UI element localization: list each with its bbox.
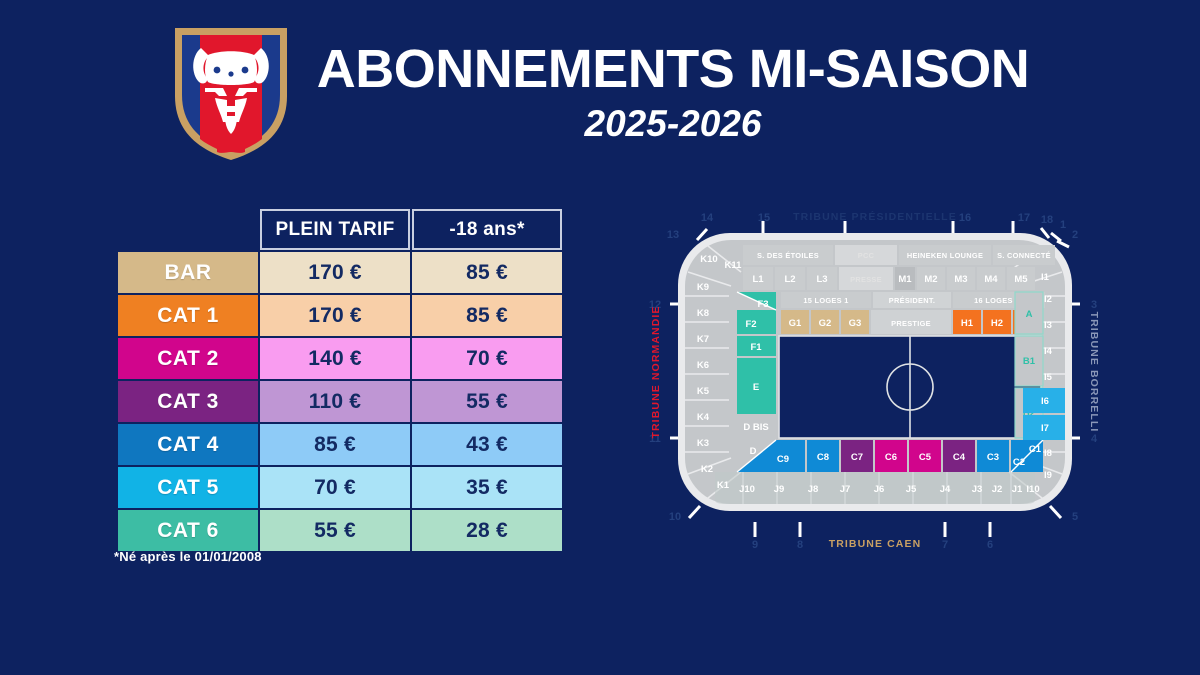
- column-header-full-price: PLEIN TARIF: [260, 209, 410, 250]
- full-price-cell: 55 €: [260, 510, 410, 551]
- pitch: [779, 336, 1041, 438]
- section-I7: I7: [1041, 423, 1049, 434]
- tribune-normandie-label: TRIBUNE NORMANDIE: [650, 305, 662, 438]
- section-C6: C6: [885, 452, 897, 463]
- full-price-cell: 140 €: [260, 338, 410, 379]
- section-C9: C9: [777, 454, 789, 465]
- section-PRESTIGE: PRESTIGE: [891, 319, 931, 328]
- section-M3: M3: [954, 274, 967, 285]
- full-price-cell: 170 €: [260, 295, 410, 336]
- section-I10: I10: [1026, 484, 1039, 495]
- section-L1: L1: [752, 274, 764, 285]
- tribune-caen-label: TRIBUNE CAEN: [829, 538, 922, 550]
- youth-price-cell: 85 €: [412, 252, 562, 293]
- section-K8: K8: [697, 308, 709, 319]
- tribune-borrelli-label: TRIBUNE BORRELLI: [1088, 312, 1100, 433]
- pricing-table: PLEIN TARIF -18 ans* BAR170 €85 €CAT 117…: [116, 207, 564, 553]
- section-M5: M5: [1014, 274, 1028, 285]
- table-row: BAR170 €85 €: [118, 252, 562, 293]
- loges-president-label: PRÉSIDENT.: [889, 296, 936, 305]
- section-B1: B1: [1023, 356, 1036, 367]
- section-J7: J7: [840, 484, 851, 495]
- section-J10: J10: [739, 484, 755, 495]
- south-lower-tier: C9 C8 C7 C6 C5 C4 C3 C1 C2: [737, 440, 1043, 472]
- lounge-heineken: HEINEKEN LOUNGE: [907, 251, 983, 260]
- section-K9: K9: [697, 282, 709, 293]
- table-header-row: PLEIN TARIF -18 ans*: [118, 209, 562, 250]
- section-C1: C1: [1029, 444, 1042, 455]
- section-K3: K3: [697, 438, 709, 449]
- section-F1: F1: [750, 342, 762, 353]
- gate-16: 16: [959, 212, 971, 224]
- gate-9: 9: [752, 539, 758, 551]
- section-K10: K10: [700, 254, 717, 265]
- table-row: CAT 655 €28 €: [118, 510, 562, 551]
- section-J9: J9: [774, 484, 785, 495]
- section-F2: F2: [745, 319, 756, 330]
- season-subtitle: 2025-2026: [585, 103, 762, 145]
- section-M4: M4: [984, 274, 998, 285]
- loges-seat-row: G1 G2 G3 PRESTIGE H1 H2 H3: [781, 310, 1041, 334]
- section-J5: J5: [906, 484, 917, 495]
- section-C4: C4: [953, 452, 966, 463]
- section-I3: I3: [1044, 320, 1052, 331]
- gate-15: 15: [758, 212, 770, 224]
- gate-1: 1: [1060, 219, 1066, 231]
- ring-bottom-labels: J10 J9 J8 J7 J6 J5 J4 J3 J2 J1: [739, 484, 1023, 495]
- gate-7: 7: [942, 539, 948, 551]
- stadium-seating-map[interactable]: 13 14 15 16 17 18 1 2 12 11 3 4 10 9 8 7…: [645, 200, 1105, 560]
- section-G2: G2: [819, 318, 832, 329]
- pricing-table-container: PLEIN TARIF -18 ans* BAR170 €85 €CAT 117…: [116, 207, 556, 553]
- section-K4: K4: [697, 412, 710, 423]
- section-G1: G1: [789, 318, 802, 329]
- section-DBIS: D BIS: [743, 422, 768, 433]
- category-cell: CAT 1: [118, 295, 258, 336]
- section-J6: J6: [874, 484, 885, 495]
- table-row: CAT 2140 €70 €: [118, 338, 562, 379]
- gate-17: 17: [1018, 212, 1030, 224]
- gate-4: 4: [1091, 433, 1098, 445]
- category-cell: CAT 3: [118, 381, 258, 422]
- gate-18: 18: [1041, 214, 1053, 226]
- section-PRESSE: PRESSE: [850, 275, 882, 284]
- table-row: CAT 3110 €55 €: [118, 381, 562, 422]
- section-K5: K5: [697, 386, 710, 397]
- section-K2: K2: [701, 464, 713, 475]
- section-J1: J1: [1012, 484, 1023, 495]
- section-L2: L2: [784, 274, 795, 285]
- youth-price-cell: 35 €: [412, 467, 562, 508]
- section-K7: K7: [697, 334, 709, 345]
- section-I5: I5: [1044, 372, 1053, 383]
- section-C7: C7: [851, 452, 863, 463]
- club-crest-icon: [171, 22, 291, 164]
- section-C5: C5: [919, 452, 932, 463]
- section-I4: I4: [1044, 346, 1053, 357]
- section-H2: H2: [991, 318, 1003, 329]
- gate-2: 2: [1072, 229, 1078, 241]
- lounge-connecte: S. CONNECTÉ: [997, 251, 1051, 260]
- category-cell: CAT 4: [118, 424, 258, 465]
- youth-price-cell: 70 €: [412, 338, 562, 379]
- table-row: CAT 485 €43 €: [118, 424, 562, 465]
- section-K11: K11: [725, 260, 743, 271]
- table-corner-cell: [118, 209, 258, 250]
- youth-price-cell: 28 €: [412, 510, 562, 551]
- gate-8: 8: [797, 539, 803, 551]
- full-price-cell: 85 €: [260, 424, 410, 465]
- youth-price-cell: 55 €: [412, 381, 562, 422]
- lounge-pcc: PCC: [858, 251, 875, 260]
- section-C8: C8: [817, 452, 829, 463]
- table-row: CAT 1170 €85 €: [118, 295, 562, 336]
- full-price-cell: 170 €: [260, 252, 410, 293]
- gate-5: 5: [1072, 511, 1078, 523]
- gate-14: 14: [701, 212, 714, 224]
- page-header: ABONNEMENTS MI-SAISON 2025-2026: [0, 22, 1200, 164]
- lounge-etoiles: S. DES ÉTOILES: [757, 251, 819, 260]
- category-cell: CAT 6: [118, 510, 258, 551]
- section-I1: I1: [1041, 272, 1050, 283]
- section-J3: J3: [972, 484, 983, 495]
- section-D: D: [750, 446, 757, 457]
- pricing-table-body: BAR170 €85 €CAT 1170 €85 €CAT 2140 €70 €…: [118, 252, 562, 551]
- youth-price-cell: 85 €: [412, 295, 562, 336]
- table-footnote: *Né après le 01/01/2008: [114, 549, 262, 564]
- youth-price-cell: 43 €: [412, 424, 562, 465]
- section-K1: K1: [717, 480, 730, 491]
- section-I6: I6: [1041, 396, 1049, 407]
- section-M1: M1: [898, 274, 912, 285]
- section-H1: H1: [961, 318, 974, 329]
- section-K6: K6: [697, 360, 709, 371]
- section-L3: L3: [816, 274, 827, 285]
- section-J4: J4: [940, 484, 951, 495]
- category-cell: CAT 5: [118, 467, 258, 508]
- page-title: ABONNEMENTS MI-SAISON: [317, 41, 1030, 98]
- section-E: E: [753, 382, 759, 393]
- section-M2: M2: [924, 274, 937, 285]
- loges-label-strip: 15 LOGES 1 PRÉSIDENT. 16 LOGES 30: [781, 292, 1045, 308]
- top-lounge-strip: S. DES ÉTOILES PCC HEINEKEN LOUNGE S. CO…: [743, 245, 1055, 265]
- gate-3: 3: [1091, 299, 1097, 311]
- loges-left-label: 15 LOGES 1: [803, 296, 848, 305]
- category-cell: BAR: [118, 252, 258, 293]
- section-I8: I8: [1044, 448, 1052, 459]
- gate-13: 13: [667, 229, 679, 241]
- column-header-youth-price: -18 ans*: [412, 209, 562, 250]
- full-price-cell: 110 €: [260, 381, 410, 422]
- section-C2: C2: [1013, 457, 1025, 468]
- section-F3: F3: [757, 299, 768, 310]
- section-A: A: [1026, 309, 1033, 320]
- gate-6: 6: [987, 539, 993, 551]
- title-block: ABONNEMENTS MI-SAISON 2025-2026: [317, 41, 1030, 146]
- section-J2: J2: [992, 484, 1003, 495]
- section-J8: J8: [808, 484, 819, 495]
- section-I9: I9: [1044, 470, 1052, 481]
- section-I2: I2: [1044, 294, 1052, 305]
- table-row: CAT 570 €35 €: [118, 467, 562, 508]
- tribune-presidentielle-label: TRIBUNE PRÉSIDENTIELLE: [793, 210, 957, 223]
- category-cell: CAT 2: [118, 338, 258, 379]
- section-G3: G3: [849, 318, 862, 329]
- full-price-cell: 70 €: [260, 467, 410, 508]
- gate-10: 10: [669, 511, 681, 523]
